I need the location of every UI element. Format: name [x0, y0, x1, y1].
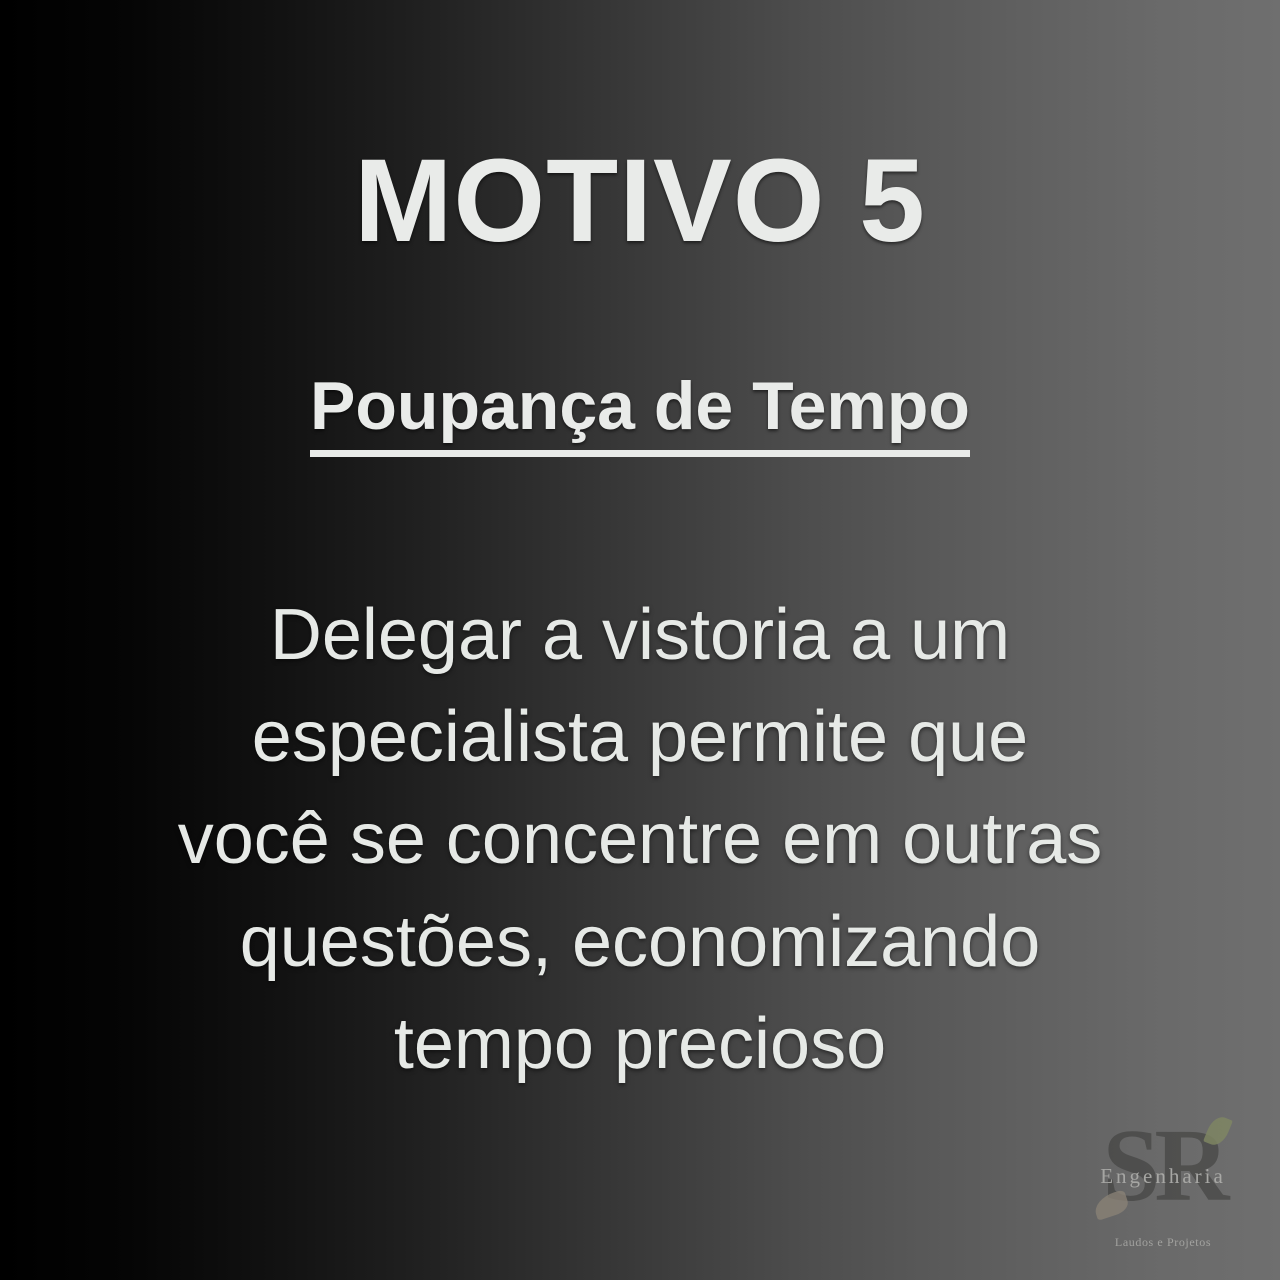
- page-title: MOTIVO 5: [0, 140, 1280, 264]
- post-content: MOTIVO 5 Poupança de Tempo Delegar a vis…: [0, 0, 1280, 1280]
- body-line: questões, economizando: [96, 891, 1184, 993]
- post-subtitle: Poupança de Tempo: [0, 368, 1280, 457]
- body-line: tempo precioso: [96, 993, 1184, 1095]
- post-body: Delegar a vistoria a um especialista per…: [96, 584, 1184, 1095]
- post-subtitle-text: Poupança de Tempo: [310, 368, 970, 457]
- body-line: Delegar a vistoria a um: [96, 584, 1184, 686]
- social-post-canvas: MOTIVO 5 Poupança de Tempo Delegar a vis…: [0, 0, 1280, 1280]
- body-line: você se concentre em outras: [96, 788, 1184, 890]
- body-line: especialista permite que: [96, 686, 1184, 788]
